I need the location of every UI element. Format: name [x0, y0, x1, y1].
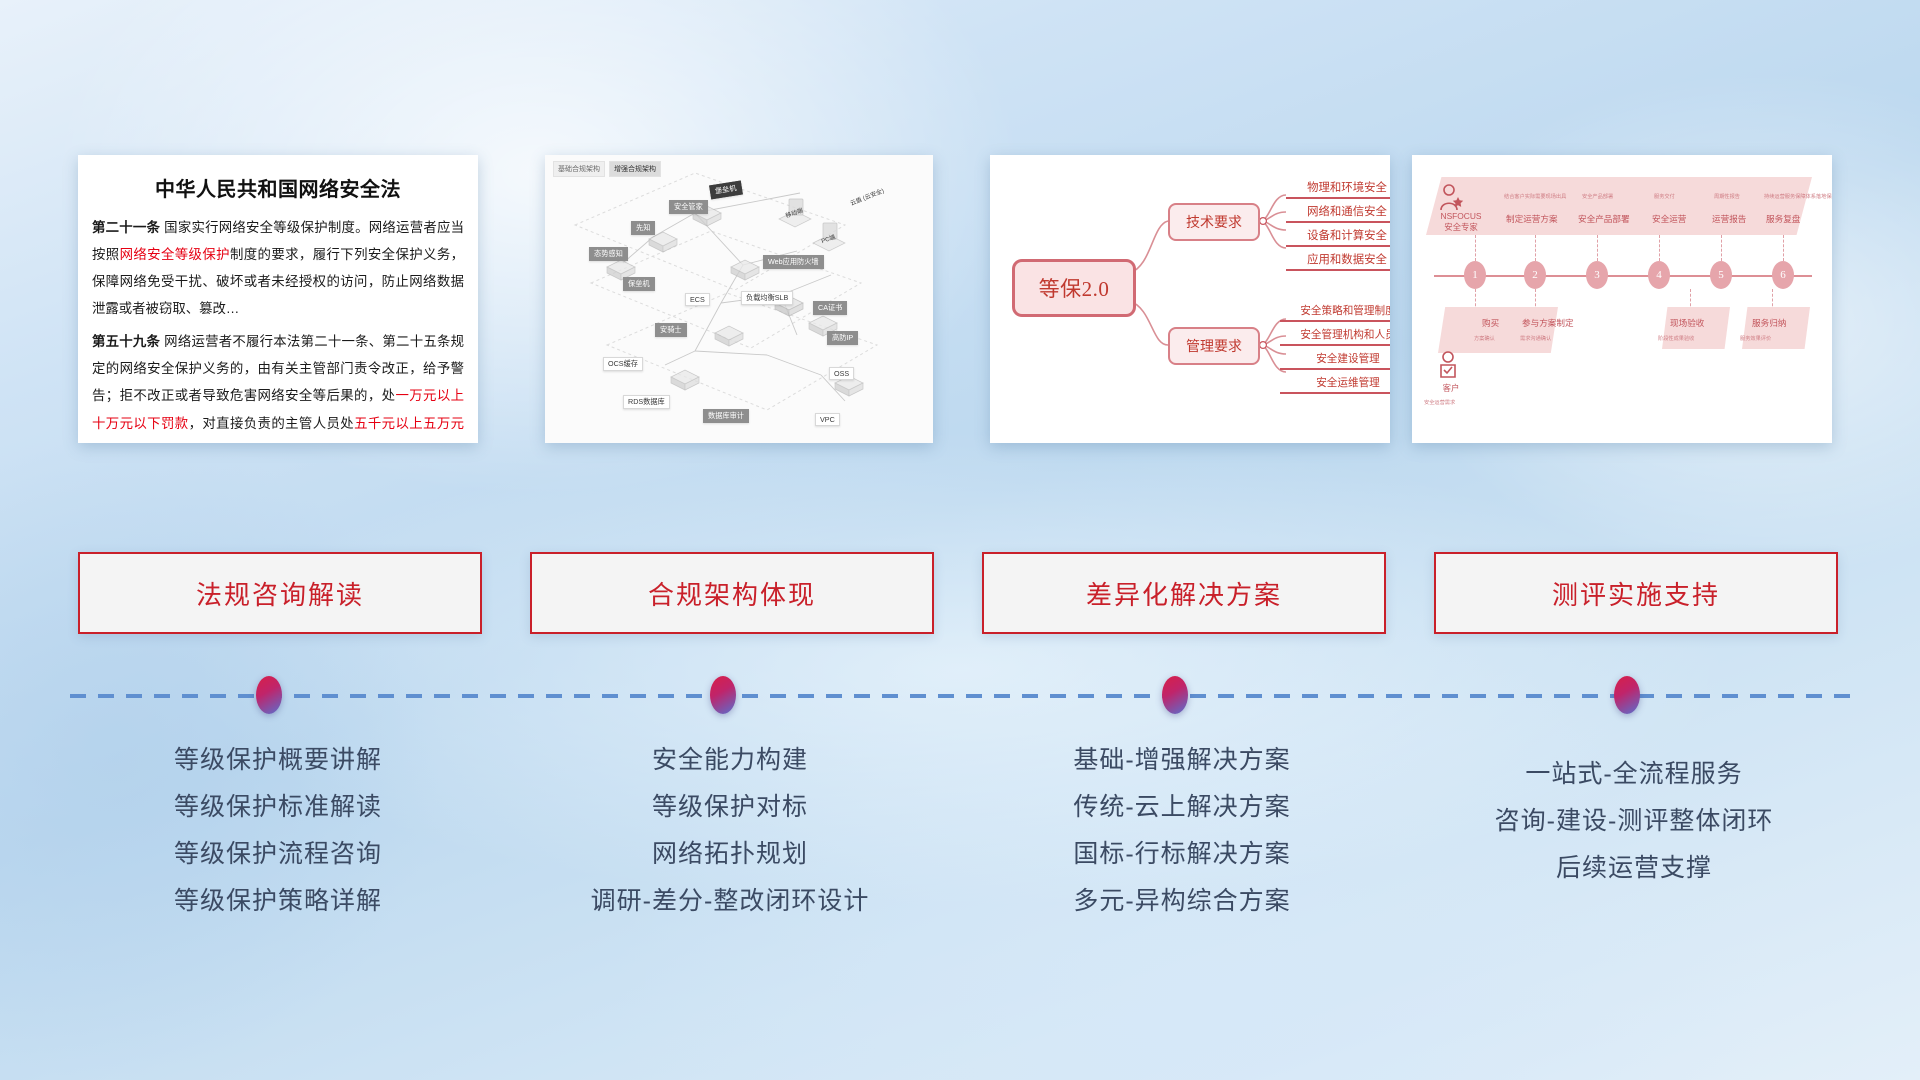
banner-label-3: 差异化解决方案	[1086, 575, 1282, 612]
law-document: 中华人民共和国网络安全法 第二十一条 国家实行网络安全等级保护制度。网络运营者应…	[78, 155, 478, 443]
timeline-dot-3[interactable]	[1162, 676, 1188, 714]
column-assessment-support: 一站式-全流程服务 咨询-建设-测评整体闭环 后续运营支撑	[1434, 762, 1834, 903]
mindmap-leaf-construction-mgmt: 安全建设管理	[1280, 351, 1390, 370]
list-item: 后续运营支撑	[1434, 856, 1834, 881]
mindmap-branch-technical: 技术要求	[1168, 203, 1260, 241]
law-article-59: 第五十九条 网络运营者不履行本法第二十一条、第二十五条规定的网络安全保护义务的，…	[92, 328, 464, 443]
nsfocus-top-label-3: 安全运营	[1652, 213, 1686, 225]
nsfocus-brand: NSFOCUS 安全专家	[1430, 211, 1492, 234]
nsfocus-brand-sub: 安全专家	[1444, 222, 1478, 232]
banner-label-2: 合规架构体现	[648, 575, 816, 612]
nsfocus-bottom-label-1: 购买	[1482, 317, 1499, 329]
column-differentiated-solution: 基础-增强解决方案 传统-云上解决方案 国标-行标解决方案 多元-异构综合方案	[982, 748, 1382, 936]
nsfocus-node-3: 3	[1586, 261, 1608, 289]
list-item: 等级保护标准解读	[78, 795, 478, 820]
arch-node-vpc: VPC	[815, 413, 840, 426]
banner-assessment-support[interactable]: 测评实施支持	[1434, 552, 1838, 634]
law-title: 中华人民共和国网络安全法	[92, 173, 464, 202]
banner-compliance-architecture[interactable]: 合规架构体现	[530, 552, 934, 634]
nsfocus-node-6: 6	[1772, 261, 1794, 289]
mindmap-leaf-policy-system: 安全策略和管理制度	[1280, 303, 1390, 322]
banner-label-1: 法规咨询解读	[196, 575, 364, 612]
nsfocus-bottom-mini-4: 服务效果评价	[1740, 335, 1771, 342]
nsfocus-bottom-mini-1: 方案确认	[1474, 335, 1495, 342]
column-regulation-consulting: 等级保护概要讲解 等级保护标准解读 等级保护流程咨询 等级保护策略详解	[78, 748, 478, 936]
mindmap-leaf-network-comm: 网络和通信安全	[1286, 203, 1390, 223]
mindmap-leaf-device-compute: 设备和计算安全	[1286, 227, 1390, 247]
arch-node-rds: RDS数据库	[623, 395, 670, 409]
nsfocus-top-mini-3: 服务交付	[1654, 193, 1675, 200]
nsfocus-dash-4	[1659, 235, 1660, 261]
list-item: 多元-异构综合方案	[982, 889, 1382, 914]
list-item: 等级保护策略详解	[78, 889, 478, 914]
nsfocus-top-mini-2: 安全产品部署	[1582, 193, 1613, 200]
banner-regulation-consulting[interactable]: 法规咨询解读	[78, 552, 482, 634]
nsfocus-node-5: 5	[1710, 261, 1732, 289]
nsfocus-axis-line	[1434, 275, 1812, 277]
nsfocus-top-label-5: 服务复盘	[1766, 213, 1800, 225]
expert-person-icon	[1438, 183, 1464, 213]
nsfocus-top-mini-4: 周期性报告	[1714, 193, 1740, 200]
arch-node-ca-cert: CA证书	[813, 301, 847, 315]
banner-label-4: 测评实施支持	[1552, 575, 1720, 612]
arch-node-waf: Web应用防火墙	[763, 255, 824, 269]
customer-person-icon	[1438, 351, 1462, 381]
list-item: 等级保护流程咨询	[78, 842, 478, 867]
nsfocus-bottom-label-2: 参与方案制定	[1522, 317, 1574, 329]
nsfocus-top-label-1: 制定运营方案	[1506, 213, 1558, 225]
law-article-21: 第二十一条 国家实行网络安全等级保护制度。网络运营者应当按照网络安全等级保护制度…	[92, 214, 464, 322]
nsfocus-dash-1	[1475, 235, 1476, 261]
list-item: 国标-行标解决方案	[982, 842, 1382, 867]
list-item: 一站式-全流程服务	[1434, 762, 1834, 787]
timeline-dot-4[interactable]	[1614, 676, 1640, 714]
arch-node-anqishi: 安骑士	[655, 323, 687, 337]
list-item: 安全能力构建	[530, 748, 930, 773]
banner-differentiated-solution[interactable]: 差异化解决方案	[982, 552, 1386, 634]
nsfocus-customer-label: 客户	[1434, 383, 1468, 394]
arch-node-security-steward: 安全管家	[669, 200, 708, 214]
timeline-dashed-line	[70, 694, 1850, 698]
arch-node-xianzhi: 先知	[631, 221, 655, 235]
card-mindmap-dengbao[interactable]: 等保2.0 技术要求 物理和环境安全 网络和通信安全 设备和计算安全 应用和数据…	[990, 155, 1390, 443]
arch-node-db-audit: 数据库审计	[703, 409, 749, 423]
mindmap-root: 等保2.0	[1012, 259, 1136, 317]
nsfocus-timeline: NSFOCUS 安全专家 结合客户实际需要现场出具 制定运营方案 安全产品部署 …	[1412, 155, 1832, 443]
nsfocus-top-mini-5: 持续运营服务保障体系落地保障	[1764, 193, 1832, 200]
nsfocus-bottom-label-4: 服务归纳	[1752, 317, 1786, 329]
nsfocus-dash-2	[1535, 235, 1536, 261]
nsfocus-node-2: 2	[1524, 261, 1546, 289]
list-item: 传统-云上解决方案	[982, 795, 1382, 820]
list-item: 咨询-建设-测评整体闭环	[1434, 809, 1834, 834]
arch-node-bastion-host: 保垒机	[623, 277, 655, 291]
nsfocus-node-1: 1	[1464, 261, 1486, 289]
mindmap-leaf-ops-mgmt: 安全运维管理	[1280, 375, 1390, 394]
list-item: 网络拓扑规划	[530, 842, 930, 867]
law-article-59-text-b: ，对直接负责的主管人员处	[189, 416, 355, 431]
nsfocus-customer-sub: 安全运营需求	[1424, 399, 1455, 406]
arch-node-oss: OSS	[829, 367, 854, 380]
list-item: 等级保护概要讲解	[78, 748, 478, 773]
card-compliance-architecture[interactable]: 基础合规架构 增强合规架构	[545, 155, 933, 443]
nsfocus-top-label-2: 安全产品部署	[1578, 213, 1630, 225]
nsfocus-dash-5	[1721, 235, 1722, 261]
card-row: 中华人民共和国网络安全法 第二十一条 国家实行网络安全等级保护制度。网络运营者应…	[0, 0, 1920, 430]
arch-node-slb: 负载均衡SLB	[741, 291, 793, 305]
nsfocus-bottom-label-3: 现场验收	[1670, 317, 1704, 329]
timeline-dot-2[interactable]	[710, 676, 736, 714]
law-article-21-label: 第二十一条	[92, 220, 160, 235]
timeline-dot-1[interactable]	[256, 676, 282, 714]
list-item: 基础-增强解决方案	[982, 748, 1382, 773]
arch-node-ecs: ECS	[685, 293, 710, 306]
law-article-21-highlight: 网络安全等级保护	[120, 247, 230, 262]
nsfocus-node-4: 4	[1648, 261, 1670, 289]
mindmap-leaf-app-data: 应用和数据安全	[1286, 251, 1390, 271]
nsfocus-bottom-mini-2: 需求沟通确认	[1520, 335, 1551, 342]
nsfocus-brand-name: NSFOCUS	[1441, 211, 1482, 221]
nsfocus-top-label-4: 运营报告	[1712, 213, 1746, 225]
mindmap-leaf-org-personnel: 安全管理机构和人员	[1280, 327, 1390, 346]
nsfocus-dash-3	[1597, 235, 1598, 261]
card-nsfocus-timeline[interactable]: NSFOCUS 安全专家 结合客户实际需要现场出具 制定运营方案 安全产品部署 …	[1412, 155, 1832, 443]
mindmap-branch-management: 管理要求	[1168, 327, 1260, 365]
nsfocus-bottom-mini-3: 阶段性成果验收	[1658, 335, 1694, 342]
nsfocus-dash-6	[1783, 235, 1784, 261]
card-cybersecurity-law[interactable]: 中华人民共和国网络安全法 第二十一条 国家实行网络安全等级保护制度。网络运营者应…	[78, 155, 478, 443]
arch-node-situation-awareness: 态势感知	[589, 247, 628, 261]
mindmap-leaf-physical-env: 物理和环境安全	[1286, 179, 1390, 199]
nsfocus-top-mini-1: 结合客户实际需要现场出具	[1504, 193, 1566, 200]
slide-stage: 中华人民共和国网络安全法 第二十一条 国家实行网络安全等级保护制度。网络运营者应…	[0, 0, 1920, 1080]
arch-node-ocs-cache: OCS缓存	[603, 357, 643, 371]
arch-node-anti-ddos: 高防IP	[827, 331, 858, 345]
mindmap: 等保2.0 技术要求 物理和环境安全 网络和通信安全 设备和计算安全 应用和数据…	[990, 155, 1390, 443]
column-compliance-architecture: 安全能力构建 等级保护对标 网络拓扑规划 调研-差分-整改闭环设计	[530, 748, 930, 936]
architecture-diagram: 基础合规架构 增强合规架构	[545, 155, 933, 443]
nsfocus-bottom-band-left	[1438, 307, 1558, 353]
law-article-59-label: 第五十九条	[92, 334, 160, 349]
list-item: 等级保护对标	[530, 795, 930, 820]
list-item: 调研-差分-整改闭环设计	[530, 889, 930, 914]
